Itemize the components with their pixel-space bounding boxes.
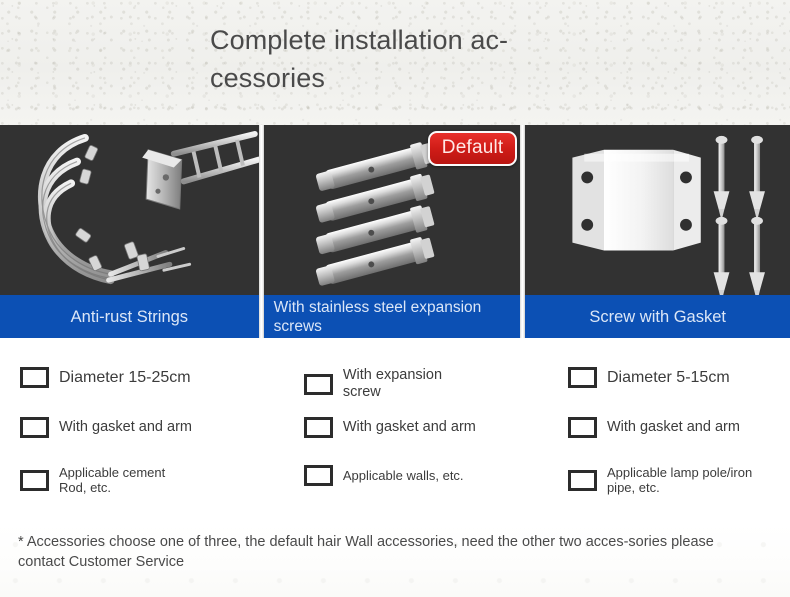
option-row[interactable]: With gasket and arm (304, 417, 476, 438)
anti-rust-strings-icon (0, 125, 259, 295)
option-label: Diameter 15-25cm (59, 368, 191, 387)
option-label: Applicable cement Rod, etc. (59, 465, 184, 495)
checkbox-diameter-5-15cm[interactable] (568, 367, 597, 388)
accessory-options-grid: Diameter 15-25cm With gasket and arm App… (0, 338, 790, 523)
accessories-info-page: Complete installation ac-cessories (0, 0, 790, 597)
product-panel-screw-with-gasket[interactable]: Screw with Gasket (525, 125, 790, 338)
option-column-screw-with-gasket: Diameter 5-15cm With gasket and arm Appl… (548, 338, 790, 523)
checkbox-with-gasket-and-arm-3[interactable] (568, 417, 597, 438)
option-column-anti-rust-strings: Diameter 15-25cm With gasket and arm App… (0, 338, 291, 523)
product-panel-strip: Anti-rust Strings (0, 125, 790, 338)
option-row[interactable]: With expansion screw (304, 367, 455, 401)
panel-label-expansion-screws: With stainless steel expansion screws (264, 295, 521, 338)
option-row[interactable]: Diameter 5-15cm (568, 367, 730, 388)
option-row[interactable]: With gasket and arm (20, 417, 192, 438)
option-row[interactable]: Applicable walls, etc. (304, 465, 464, 486)
option-column-expansion-screws: With expansion screw With gasket and arm… (291, 338, 548, 523)
option-label: Applicable lamp pole/iron pipe, etc. (607, 465, 782, 495)
option-label: With expansion screw (343, 367, 455, 401)
panel-label-screw-with-gasket: Screw with Gasket (525, 295, 790, 338)
option-row[interactable]: Diameter 15-25cm (20, 367, 191, 388)
checkbox-with-expansion-screw[interactable] (304, 374, 333, 395)
checkbox-applicable-cement-rod[interactable] (20, 470, 49, 491)
hero-banner: Complete installation ac-cessories (0, 0, 790, 125)
option-row[interactable]: Applicable cement Rod, etc. (20, 465, 184, 495)
page-title: Complete installation ac-cessories (210, 21, 590, 97)
option-label: With gasket and arm (59, 419, 192, 436)
product-panel-anti-rust-strings[interactable]: Anti-rust Strings (0, 125, 259, 338)
screw-with-gasket-icon (525, 125, 790, 295)
option-row[interactable]: With gasket and arm (568, 417, 740, 438)
option-row[interactable]: Applicable lamp pole/iron pipe, etc. (568, 465, 782, 495)
checkbox-with-gasket-and-arm-2[interactable] (304, 417, 333, 438)
option-label: Applicable walls, etc. (343, 468, 464, 483)
footnote-text: * Accessories choose one of three, the d… (18, 532, 758, 572)
checkbox-applicable-walls[interactable] (304, 465, 333, 486)
panel-label-anti-rust-strings: Anti-rust Strings (0, 295, 259, 338)
checkbox-applicable-lamp-pole[interactable] (568, 470, 597, 491)
product-panel-expansion-screws[interactable]: Default With stainless steel expansion s… (264, 125, 521, 338)
option-label: With gasket and arm (343, 419, 476, 436)
option-label: Diameter 5-15cm (607, 368, 730, 387)
option-label: With gasket and arm (607, 419, 740, 436)
checkbox-with-gasket-and-arm-1[interactable] (20, 417, 49, 438)
default-badge: Default (428, 131, 518, 166)
checkbox-diameter-15-25cm[interactable] (20, 367, 49, 388)
